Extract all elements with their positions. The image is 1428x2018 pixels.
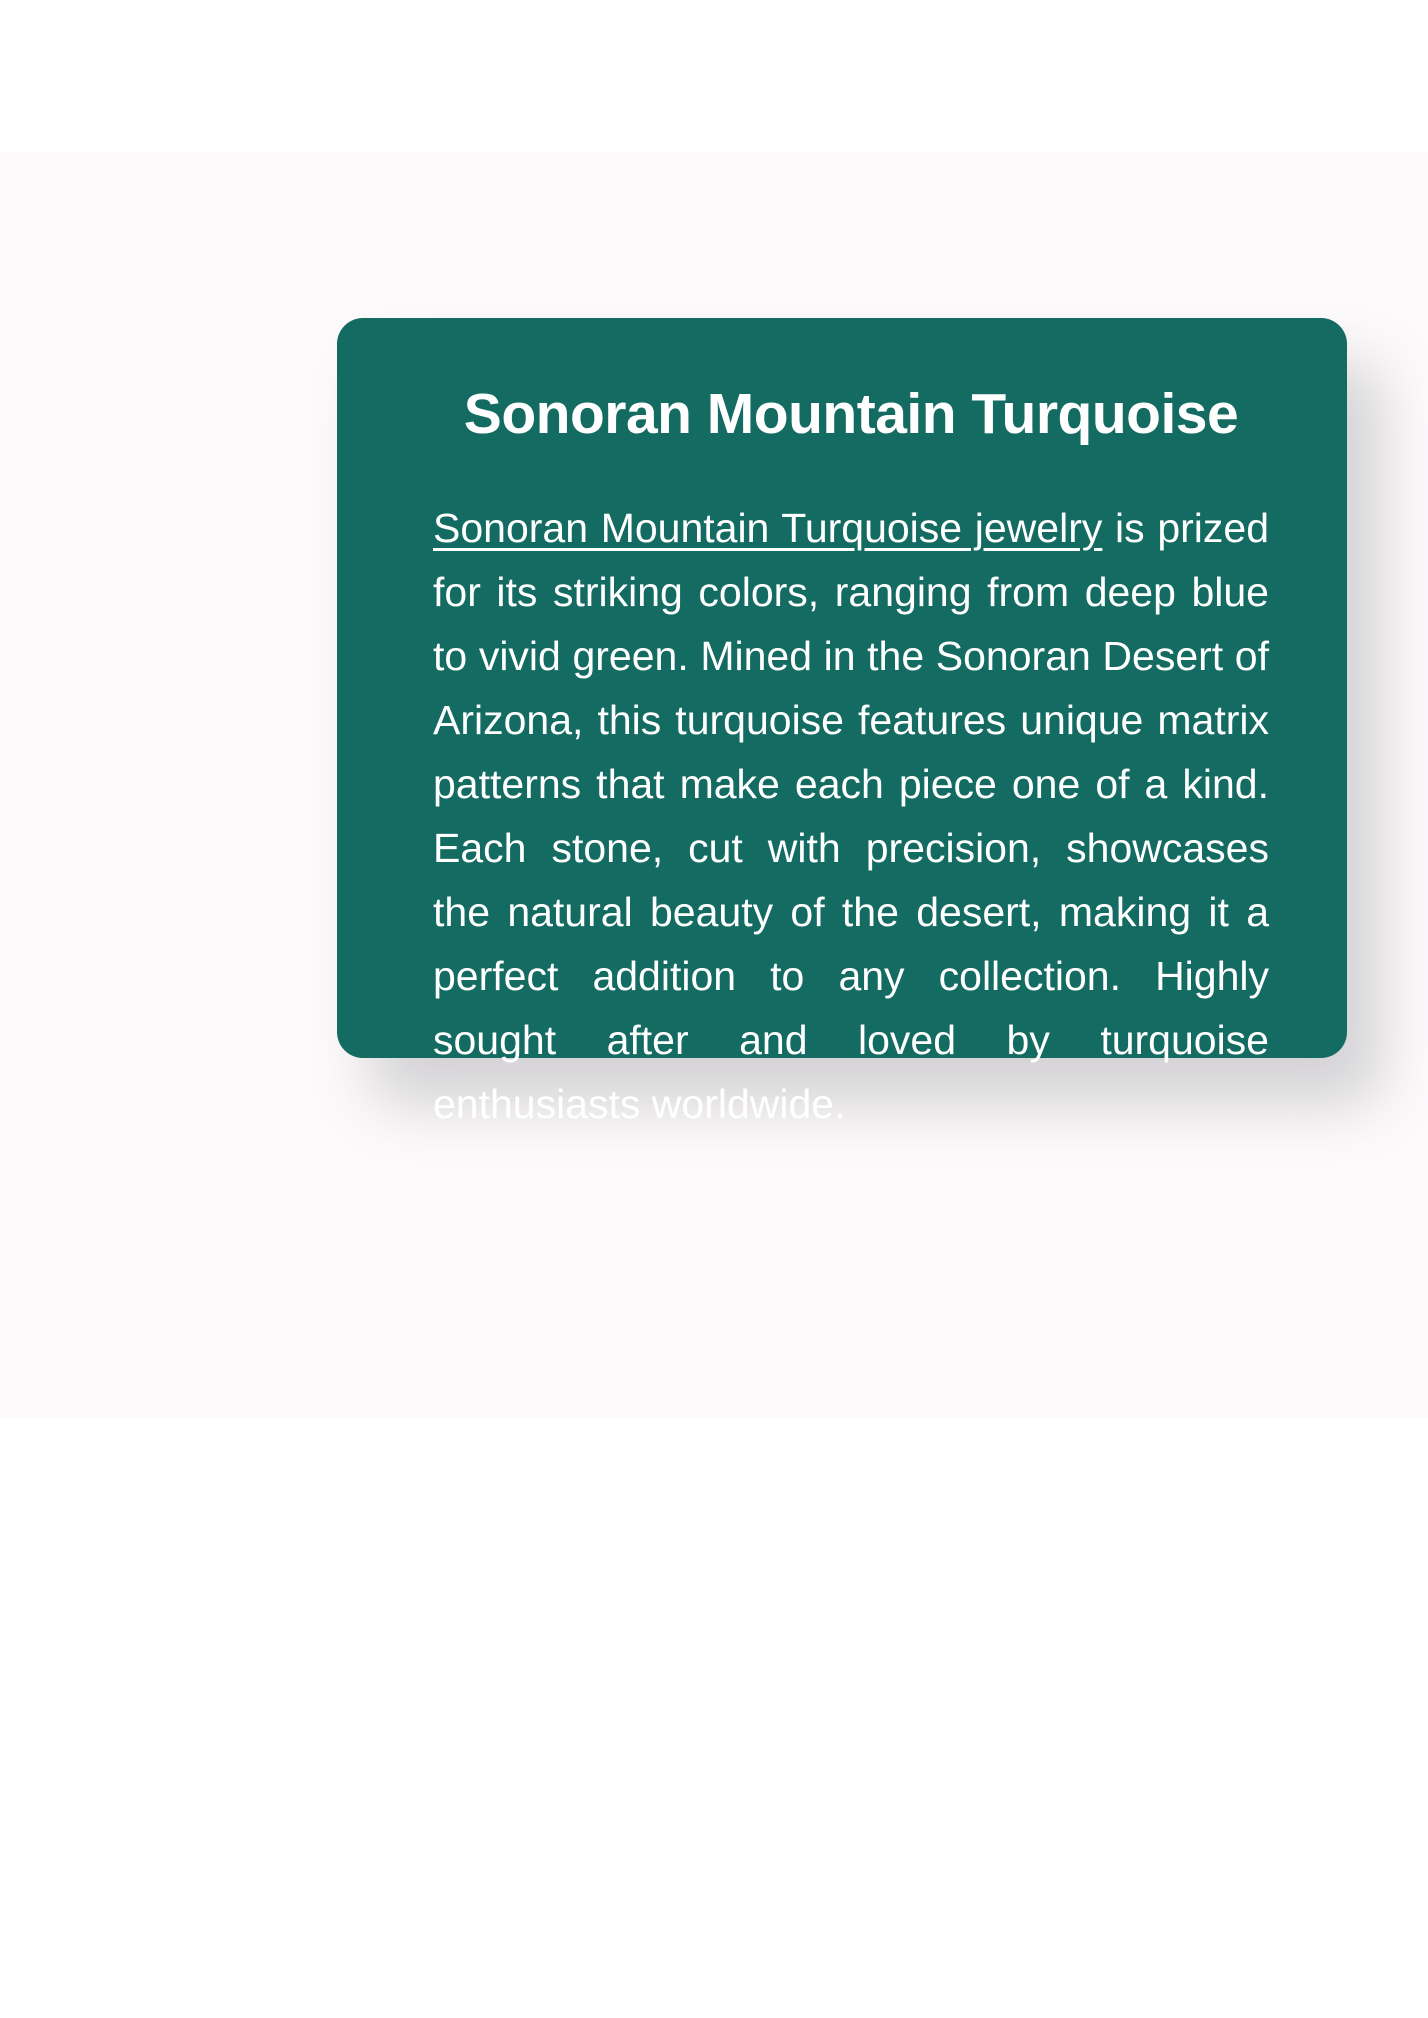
product-description-card: Sonoran Mountain Turquoise Sonoran Mount… <box>337 318 1347 1058</box>
card-stage: Sonoran Mountain Turquoise Sonoran Mount… <box>0 0 1428 2018</box>
card-body-text: Sonoran Mountain Turquoise jewelry is pr… <box>433 448 1269 1136</box>
product-link[interactable]: Sonoran Mountain Turquoise jewelry <box>433 505 1102 551</box>
card-body-rest: is prized for its striking colors, rangi… <box>433 505 1269 1127</box>
card-title: Sonoran Mountain Turquoise <box>433 362 1269 448</box>
